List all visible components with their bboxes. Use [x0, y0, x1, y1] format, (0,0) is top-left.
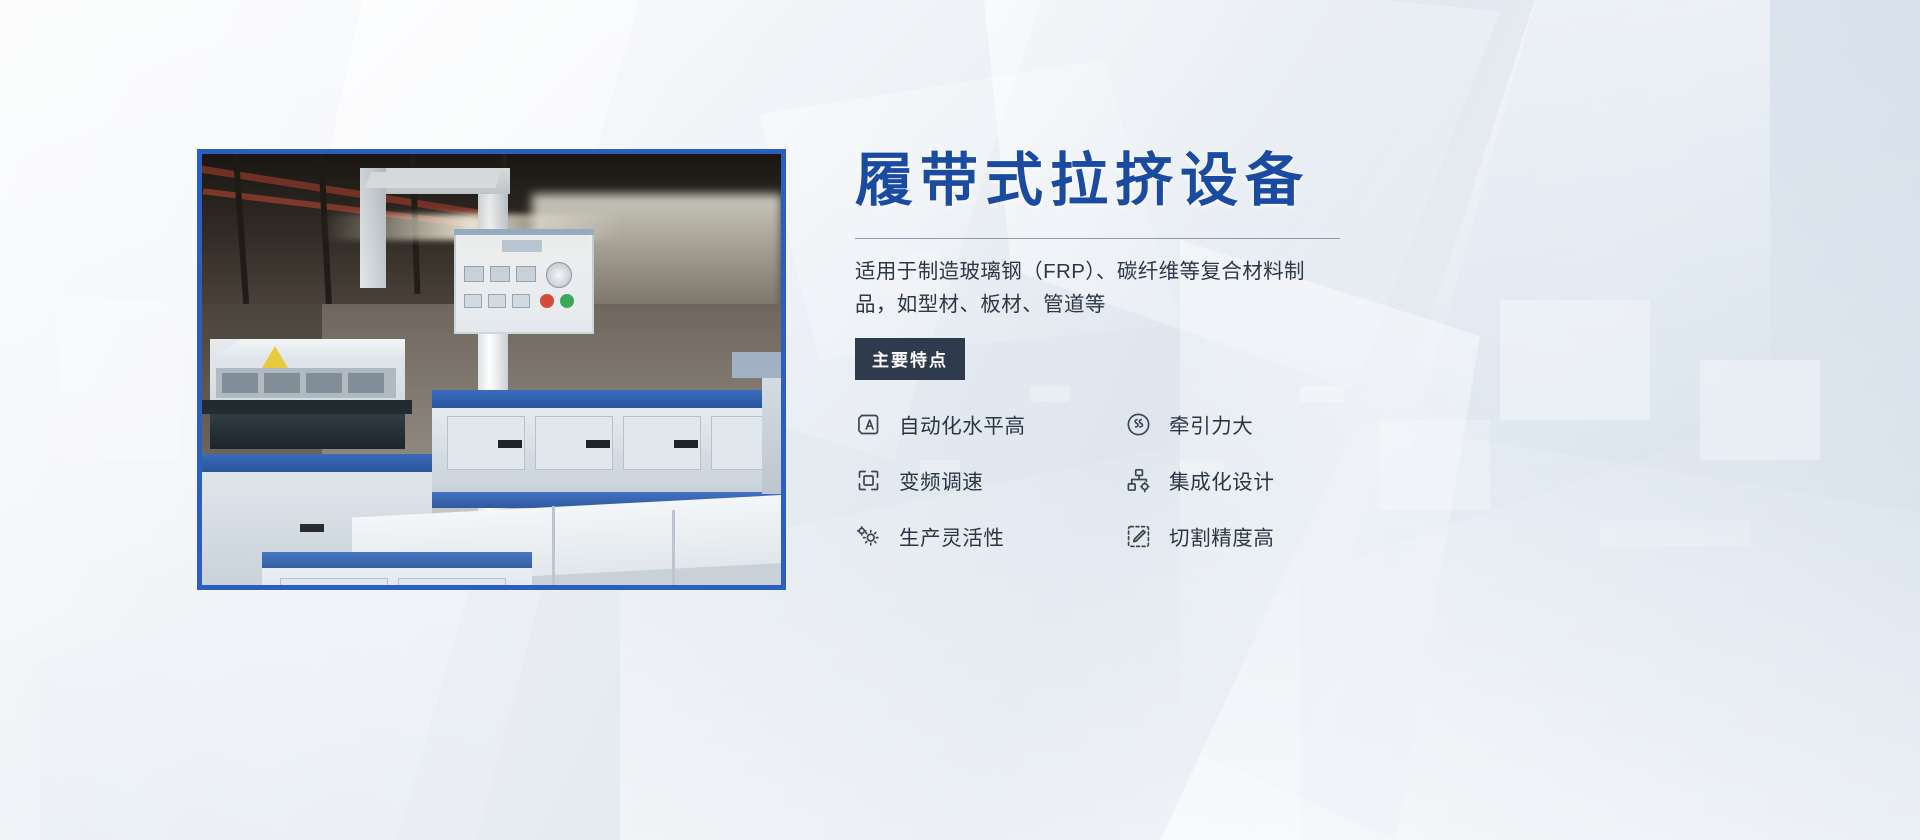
feature-label: 生产灵活性	[899, 521, 1005, 551]
feature-list: 自动化水平高 牵引力大	[855, 409, 1355, 551]
feature-item[interactable]: 变频调速	[855, 465, 1125, 495]
background-ghost-panel	[60, 300, 180, 460]
cutting-precision-icon	[1125, 523, 1152, 550]
gear-flexibility-icon	[855, 523, 882, 550]
title-divider	[855, 238, 1340, 239]
automation-a-icon	[855, 411, 882, 438]
feature-item[interactable]: 生产灵活性	[855, 521, 1125, 551]
feature-item[interactable]: 牵引力大	[1125, 409, 1355, 439]
traction-force-icon	[1125, 411, 1152, 438]
product-photo-frame[interactable]	[197, 149, 786, 590]
feature-label: 集成化设计	[1169, 465, 1275, 495]
feature-label: 变频调速	[899, 465, 983, 495]
feature-item[interactable]: 切割精度高	[1125, 521, 1355, 551]
banner-subtitle: 适用于制造玻璃钢（FRP）、碳纤维等复合材料制品，如型材、板材、管道等	[855, 255, 1345, 321]
feature-item[interactable]: 自动化水平高	[855, 409, 1125, 439]
background-ghost-panel	[1380, 420, 1490, 510]
product-banner: 履带式拉挤设备 适用于制造玻璃钢（FRP）、碳纤维等复合材料制品，如型材、板材、…	[0, 0, 1920, 840]
feature-item[interactable]: 集成化设计	[1125, 465, 1355, 495]
feature-label: 自动化水平高	[899, 409, 1026, 439]
background-ghost-panel	[1700, 360, 1820, 460]
banner-content: 履带式拉挤设备 适用于制造玻璃钢（FRP）、碳纤维等复合材料制品，如型材、板材、…	[855, 150, 1355, 551]
background-ghost-panel	[1500, 300, 1650, 420]
background-ghost-panel	[1600, 520, 1750, 546]
page-title: 履带式拉挤设备	[855, 150, 1355, 213]
integrated-design-icon	[1125, 467, 1152, 494]
features-badge: 主要特点	[855, 338, 965, 380]
frequency-speed-icon	[855, 467, 882, 494]
feature-label: 切割精度高	[1169, 521, 1275, 551]
product-photo	[202, 154, 781, 585]
feature-label: 牵引力大	[1169, 409, 1253, 439]
